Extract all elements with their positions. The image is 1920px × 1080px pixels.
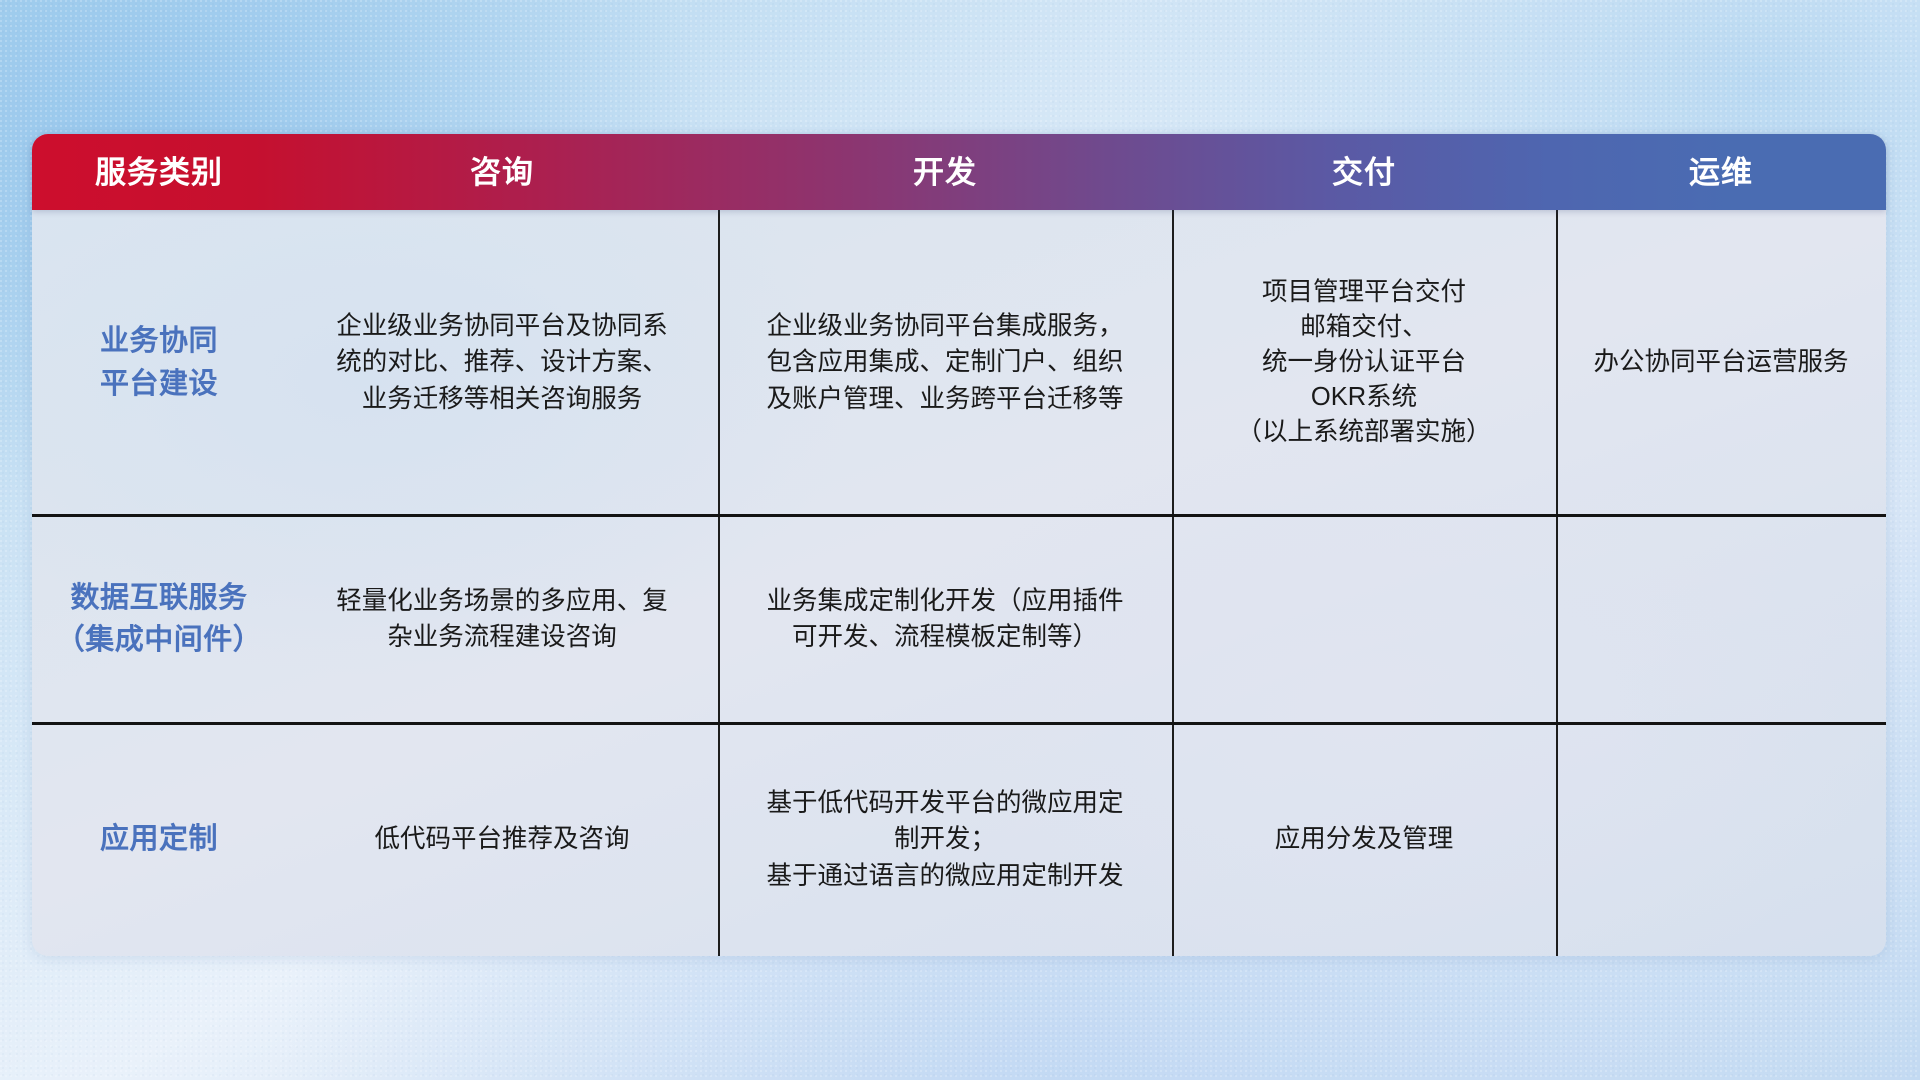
cell-development: 业务集成定制化开发（应用插件 可开发、流程模板定制等） bbox=[718, 515, 1172, 723]
column-divider-3 bbox=[1556, 210, 1558, 956]
table-row: 业务协同 平台建设 企业级业务协同平台及协同系 统的对比、推荐、设计方案、 业务… bbox=[32, 210, 1886, 515]
row-category-label: 业务协同 平台建设 bbox=[32, 210, 286, 515]
table-row: 应用定制 低代码平台推荐及咨询 基于低代码开发平台的微应用定 制开发； 基于通过… bbox=[32, 723, 1886, 956]
table-row: 数据互联服务 （集成中间件） 轻量化业务场景的多应用、复 杂业务流程建设咨询 业… bbox=[32, 515, 1886, 723]
table-rows: 业务协同 平台建设 企业级业务协同平台及协同系 统的对比、推荐、设计方案、 业务… bbox=[32, 210, 1886, 956]
slide-canvas: 服务类别 咨询 开发 交付 运维 业务协同 平台建设 企业级业务协同平台及协同系… bbox=[0, 0, 1920, 1080]
cell-development: 企业级业务协同平台集成服务， 包含应用集成、定制门户、组织 及账户管理、业务跨平… bbox=[718, 210, 1172, 515]
cell-development: 基于低代码开发平台的微应用定 制开发； 基于通过语言的微应用定制开发 bbox=[718, 723, 1172, 956]
header-cell-operations: 运维 bbox=[1556, 157, 1886, 188]
service-matrix-table: 服务类别 咨询 开发 交付 运维 业务协同 平台建设 企业级业务协同平台及协同系… bbox=[32, 134, 1886, 956]
row-divider-2 bbox=[32, 722, 1886, 725]
header-cell-development: 开发 bbox=[718, 157, 1172, 188]
cell-delivery: 应用分发及管理 bbox=[1172, 723, 1556, 956]
cell-operations: 办公协同平台运营服务 bbox=[1556, 210, 1886, 515]
cell-operations bbox=[1556, 515, 1886, 723]
column-divider-2 bbox=[1172, 210, 1174, 956]
cell-consulting: 企业级业务协同平台及协同系 统的对比、推荐、设计方案、 业务迁移等相关咨询服务 bbox=[286, 210, 718, 515]
cell-consulting: 轻量化业务场景的多应用、复 杂业务流程建设咨询 bbox=[286, 515, 718, 723]
column-divider-1 bbox=[718, 210, 720, 956]
row-category-label: 数据互联服务 （集成中间件） bbox=[32, 515, 286, 723]
cell-consulting: 低代码平台推荐及咨询 bbox=[286, 723, 718, 956]
header-cell-delivery: 交付 bbox=[1172, 157, 1556, 188]
table-header-row: 服务类别 咨询 开发 交付 运维 bbox=[32, 134, 1886, 210]
cell-delivery: 项目管理平台交付 邮箱交付、 统一身份认证平台 OKR系统 （以上系统部署实施） bbox=[1172, 210, 1556, 515]
cell-delivery bbox=[1172, 515, 1556, 723]
row-category-label: 应用定制 bbox=[32, 723, 286, 956]
header-cell-service-category: 服务类别 bbox=[32, 157, 286, 188]
row-divider-1 bbox=[32, 514, 1886, 517]
cell-operations bbox=[1556, 723, 1886, 956]
header-cell-consulting: 咨询 bbox=[286, 157, 718, 188]
